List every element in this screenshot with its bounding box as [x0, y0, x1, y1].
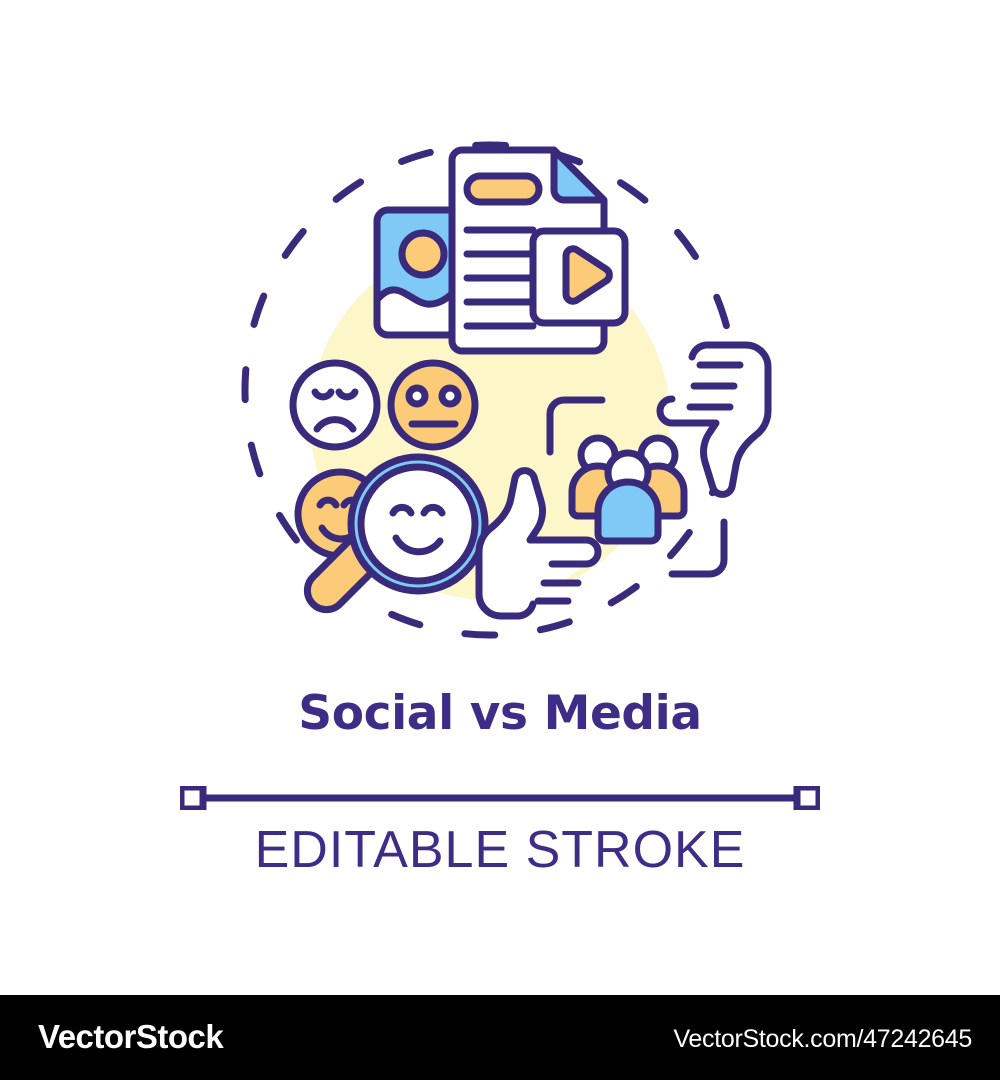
sun-icon: [402, 233, 444, 275]
editable-stroke-label: EDITABLE STROKE: [0, 820, 1000, 880]
vectorstock-logo: VectorStock: [38, 1018, 223, 1056]
rule-handle-right[interactable]: [797, 787, 819, 809]
neutral-face: [391, 363, 475, 447]
editable-stroke-rule: [180, 786, 820, 810]
rule-handle-left[interactable]: [181, 787, 203, 809]
document-header-bar: [467, 176, 539, 202]
person-center: [598, 453, 658, 541]
artwork-canvas: Social vs Media EDITABLE STROKE: [0, 0, 1000, 995]
sad-face: [293, 363, 377, 447]
video-card: [533, 231, 625, 323]
vectorstock-url: VectorStock.com/47242645: [673, 1025, 972, 1054]
page-title: Social vs Media: [0, 686, 1000, 741]
concept-illustration: [0, 0, 1000, 660]
watermark-footer: VectorStock VectorStock.com/47242645: [0, 995, 1000, 1080]
